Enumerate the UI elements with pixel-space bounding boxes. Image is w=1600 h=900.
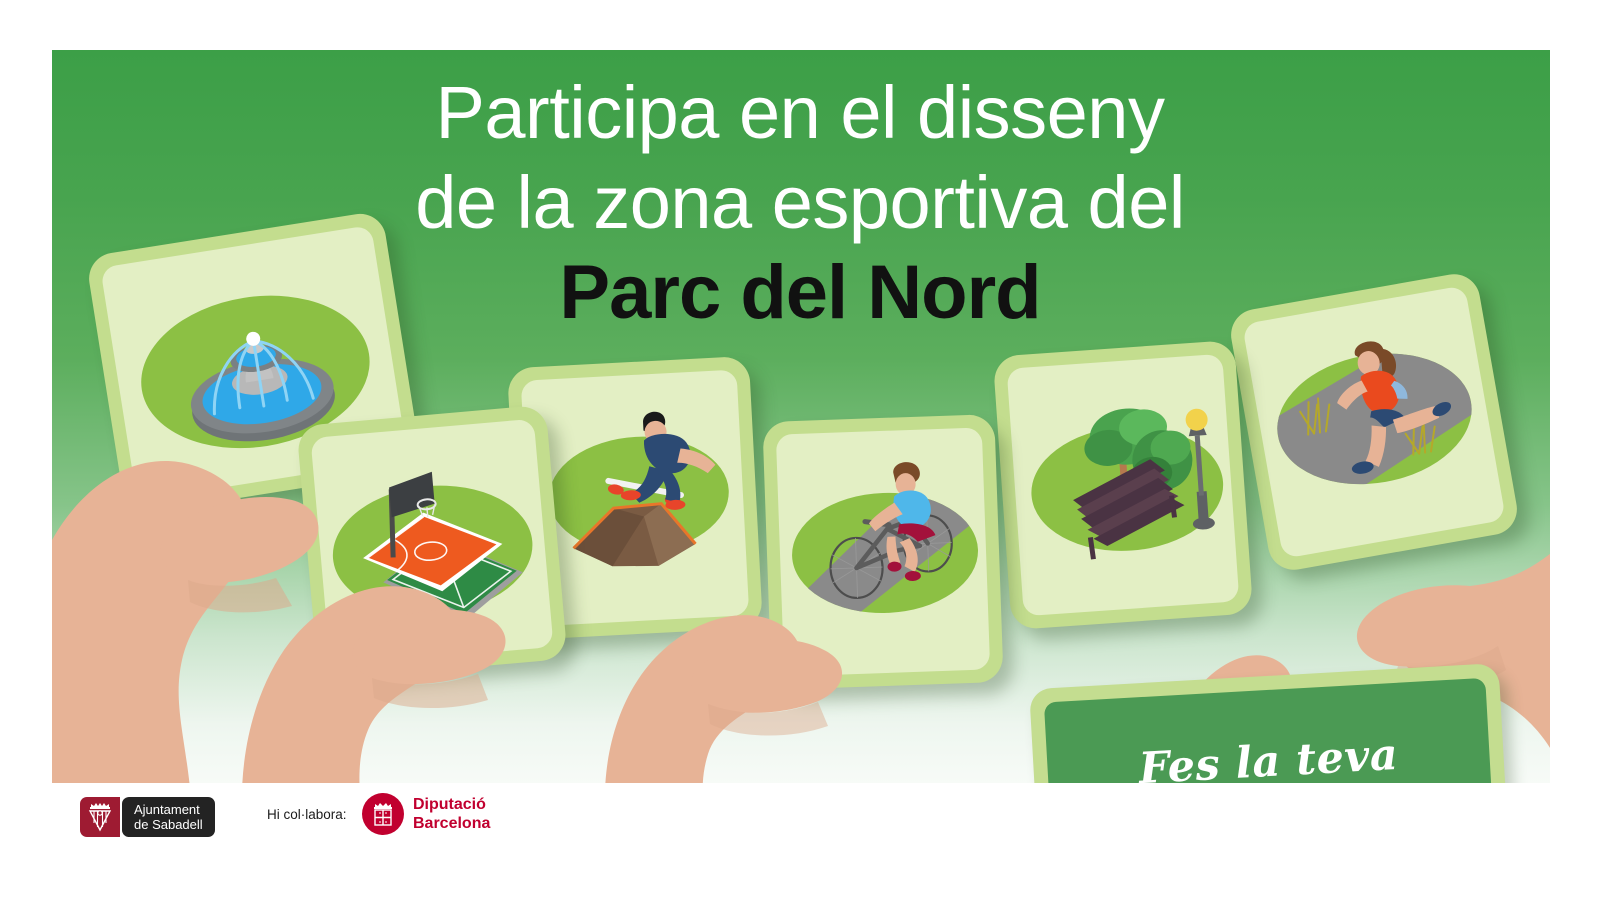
center-left-hand [552, 540, 912, 783]
left-index-hand [222, 510, 602, 783]
footer-bar: Ajuntament de Sabadell Hi col·labora: Di… [0, 783, 1600, 900]
collaboration-label: Hi col·labora: [267, 807, 347, 822]
logo-diputacio-barcelona[interactable]: Diputació Barcelona [362, 793, 490, 835]
park-bench-icon [1028, 372, 1231, 585]
diputacio-line-2: Barcelona [413, 814, 490, 833]
ajuntament-name-box: Ajuntament de Sabadell [122, 797, 215, 837]
diputacio-name-box: Diputació Barcelona [413, 795, 490, 833]
diputacio-shield-icon [362, 793, 404, 835]
poster-canvas: Participa en el disseny de la zona espor… [0, 0, 1600, 900]
ajuntament-line-2: de Sabadell [134, 817, 203, 832]
sabadell-shield-icon [80, 797, 120, 837]
ajuntament-line-1: Ajuntament [134, 802, 203, 817]
card-face [1007, 354, 1240, 616]
logo-ajuntament-sabadell[interactable]: Ajuntament de Sabadell [80, 797, 215, 837]
diputacio-line-1: Diputació [413, 795, 490, 814]
headline-line-1: Participa en el disseny [52, 68, 1550, 158]
